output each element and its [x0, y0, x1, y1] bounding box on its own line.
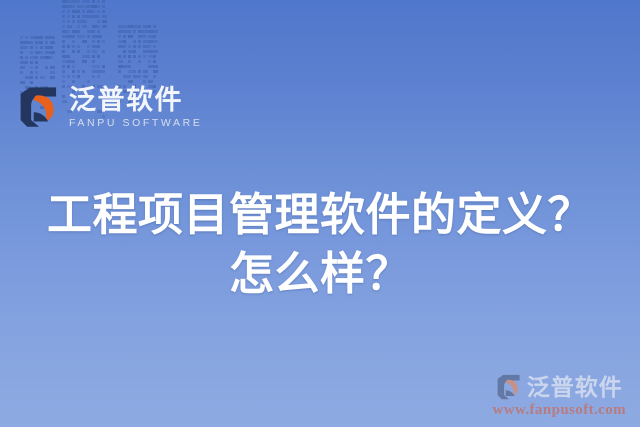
- fanpu-watermark-logo-mark-icon: [496, 374, 522, 400]
- headline-title: 工程项目管理软件的定义？ 怎么样？: [0, 186, 640, 303]
- watermark-url: www.fanpusoft.com: [493, 402, 626, 419]
- watermark-brand-name: 泛普软件: [527, 376, 623, 399]
- brand-name-cn: 泛普软件: [69, 86, 202, 114]
- brand-name-en: FANPU SOFTWARE: [69, 118, 202, 129]
- watermark-logo-row: 泛普软件: [496, 374, 623, 400]
- pixel-skyline-decoration: [18, 0, 183, 92]
- fanpu-logo-mark-icon: [18, 86, 60, 128]
- brand-wordmark: 泛普软件 FANPU SOFTWARE: [69, 86, 202, 129]
- headline-line-1: 工程项目管理软件的定义？: [0, 186, 640, 245]
- brand-logo-lockup[interactable]: 泛普软件 FANPU SOFTWARE: [18, 86, 202, 129]
- banner-canvas: 泛普软件 FANPU SOFTWARE 工程项目管理软件的定义？ 怎么样？ 泛普…: [0, 0, 640, 427]
- brand-watermark: 泛普软件 www.fanpusoft.com: [493, 374, 626, 419]
- headline-line-2: 怎么样？: [0, 245, 640, 304]
